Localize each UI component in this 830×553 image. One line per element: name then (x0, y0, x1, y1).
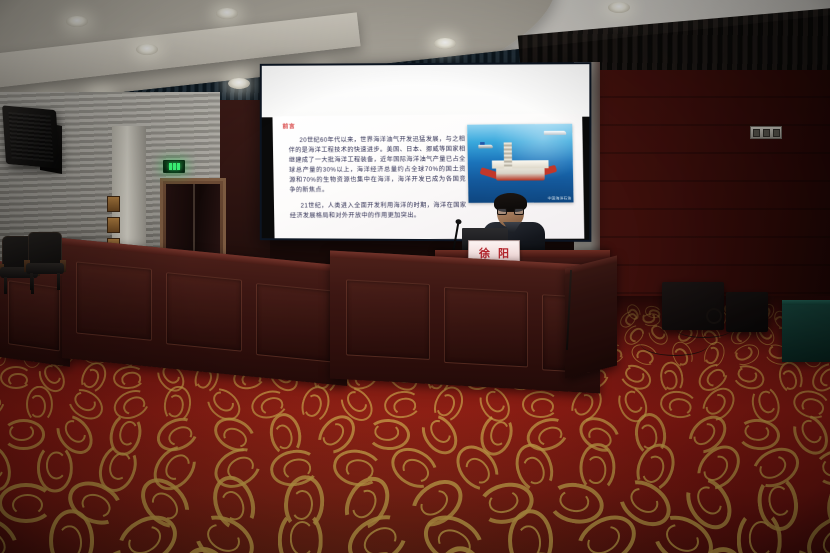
carpet-swirl (37, 443, 73, 492)
exit-sign (163, 160, 185, 173)
carpet-swirl (366, 418, 411, 451)
chair-leg-left (30, 273, 33, 290)
carpet-swirl (0, 483, 54, 523)
chair-back (28, 232, 62, 266)
desk-row-front (330, 250, 600, 393)
loudspeaker (2, 105, 60, 168)
carpet-swirl (797, 505, 830, 553)
chair-leg-left (4, 277, 7, 294)
carpet-swirl (658, 389, 699, 421)
wall-wood-panel-right (590, 70, 830, 300)
glasses-icon (497, 208, 524, 215)
carpet-swirl (0, 366, 32, 389)
downlight-4 (228, 78, 250, 89)
chair-2[interactable] (26, 232, 64, 290)
downlight-2 (136, 44, 158, 55)
carpet-swirl (522, 391, 559, 418)
conference-hall-photo: 前言 20世纪60年代以来，世界海洋油气开发迅猛发展，与之相伴的是海洋工程技术的… (0, 0, 830, 553)
green-cloth-table (782, 300, 830, 362)
carpet-swirl (26, 386, 53, 423)
cable-run-2 (640, 330, 710, 356)
carpet-swirl (0, 383, 10, 426)
carpet-swirl (2, 419, 45, 450)
nameplate-char-2: 阳 (498, 245, 509, 261)
carpet-swirl (112, 365, 146, 391)
downlight-1 (66, 16, 88, 27)
carpet-swirl (382, 389, 422, 421)
chair-leg-right (57, 273, 60, 290)
downlight-10 (608, 2, 630, 13)
light-switch-plate[interactable] (750, 126, 782, 139)
downlight-9 (434, 38, 456, 49)
desk-row-right-end (565, 256, 617, 379)
equipment-case-2 (726, 292, 768, 332)
downlight-3 (216, 8, 238, 19)
